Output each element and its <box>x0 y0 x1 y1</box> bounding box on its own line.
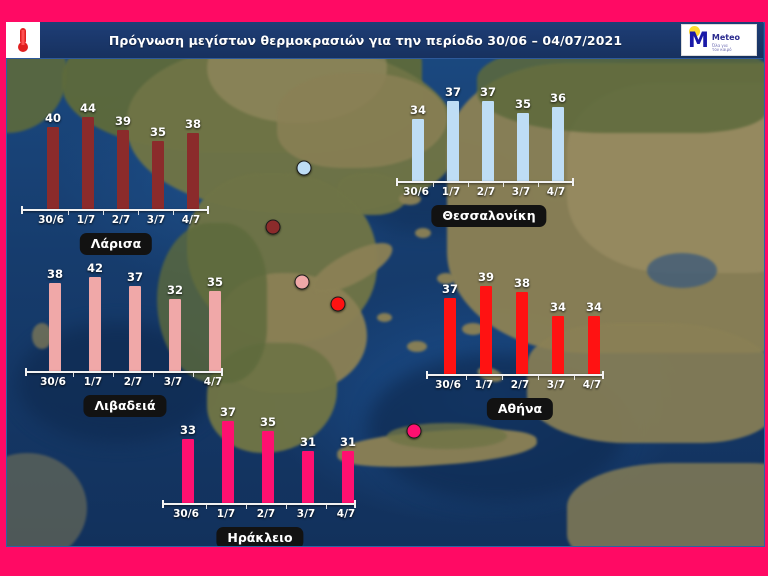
bar-value: 37 <box>220 405 236 419</box>
bar-value: 38 <box>514 276 530 290</box>
bar-column: 39 <box>478 266 494 374</box>
chart-livadeia-title: Λιβαδειά <box>83 395 166 417</box>
bar-column: 35 <box>150 101 166 209</box>
x-label: 4/7 <box>182 214 200 226</box>
chart-larissa: 40 44 39 35 38 <box>21 101 211 246</box>
chart-athina: 37 39 38 34 34 <box>426 266 606 416</box>
x-label: 1/7 <box>217 508 235 520</box>
map-marker-larissa[interactable] <box>266 220 281 235</box>
logo-tagline-2: τον καιρό <box>712 48 740 52</box>
bar-rect <box>552 316 564 374</box>
chart-thessaloniki-axis <box>396 181 574 183</box>
bar-value: 38 <box>47 267 63 281</box>
chart-larissa-title: Λάρισα <box>80 233 152 255</box>
thermometer-icon <box>6 22 40 58</box>
chart-thessaloniki-title: Θεσσαλονίκη <box>431 205 546 227</box>
bar-column: 35 <box>260 403 276 503</box>
chart-thessaloniki: 34 37 37 35 36 <box>396 81 576 226</box>
page-title: Πρόγνωση μεγίστων θερμοκρασιών για την π… <box>40 33 681 48</box>
x-label: 30/6 <box>403 186 429 198</box>
x-label: 1/7 <box>77 214 95 226</box>
map-marker-athina[interactable] <box>331 297 346 312</box>
logo-mark: M <box>688 30 709 51</box>
bar-column: 38 <box>514 266 530 374</box>
map-marker-iraklio[interactable] <box>407 424 422 439</box>
chart-livadeia: 38 42 37 32 35 <box>25 261 225 411</box>
bar-value: 37 <box>480 85 496 99</box>
bar-value: 37 <box>445 85 461 99</box>
bar-rect <box>517 113 529 181</box>
bar-column: 33 <box>180 403 196 503</box>
bar-value: 40 <box>45 111 61 125</box>
bar-value: 32 <box>167 283 183 297</box>
land-island <box>407 341 427 352</box>
bar-value: 37 <box>442 282 458 296</box>
chart-larissa-axis <box>21 209 209 211</box>
bar-value: 33 <box>180 423 196 437</box>
x-label: 3/7 <box>147 214 165 226</box>
bar-value: 31 <box>340 435 356 449</box>
bar-rect <box>117 130 129 209</box>
bar-value: 36 <box>550 91 566 105</box>
bar-column: 38 <box>185 101 201 209</box>
poster-frame: 40 44 39 35 38 <box>0 0 768 576</box>
chart-iraklio-bars: 33 37 35 31 31 <box>162 403 357 503</box>
chart-iraklio: 33 37 35 31 31 <box>162 403 357 547</box>
bar-rect <box>302 451 314 503</box>
bar-column: 34 <box>586 266 602 374</box>
x-label: 2/7 <box>257 508 275 520</box>
bar-column: 37 <box>127 261 143 371</box>
bar-rect <box>129 286 141 371</box>
x-label: 30/6 <box>40 376 66 388</box>
chart-thessaloniki-bars: 34 37 37 35 36 <box>396 81 576 181</box>
bar-value: 34 <box>410 103 426 117</box>
bar-value: 37 <box>127 270 143 284</box>
bar-column: 32 <box>167 261 183 371</box>
x-label: 1/7 <box>475 379 493 391</box>
bar-rect <box>187 133 199 209</box>
x-label: 2/7 <box>511 379 529 391</box>
bar-column: 37 <box>442 266 458 374</box>
bar-value: 39 <box>115 114 131 128</box>
meteo-logo[interactable]: M Meteo Όλα για τον καιρό <box>681 24 757 56</box>
bar-rect <box>516 292 528 374</box>
x-label: 2/7 <box>124 376 142 388</box>
x-label: 30/6 <box>38 214 64 226</box>
chart-athina-axis <box>426 374 604 376</box>
bar-rect <box>152 141 164 209</box>
bar-column: 31 <box>340 403 356 503</box>
bar-column: 44 <box>80 101 96 209</box>
bar-column: 35 <box>515 81 531 181</box>
x-label: 3/7 <box>512 186 530 198</box>
bar-rect <box>169 299 181 371</box>
chart-livadeia-bars: 38 42 37 32 35 <box>25 261 225 371</box>
x-label: 3/7 <box>164 376 182 388</box>
bar-rect <box>444 298 456 374</box>
bar-column: 38 <box>47 261 63 371</box>
bar-rect <box>82 117 94 209</box>
bar-rect <box>182 439 194 503</box>
land-island <box>415 228 431 238</box>
chart-larissa-bars: 40 44 39 35 38 <box>21 101 211 209</box>
x-label: 3/7 <box>547 379 565 391</box>
bar-rect <box>552 107 564 181</box>
x-label: 1/7 <box>442 186 460 198</box>
bar-value: 38 <box>185 117 201 131</box>
bar-column: 37 <box>445 81 461 181</box>
bar-column: 39 <box>115 101 131 209</box>
logo-name: Meteo <box>712 33 740 42</box>
x-label: 2/7 <box>112 214 130 226</box>
x-label: 3/7 <box>297 508 315 520</box>
x-label: 4/7 <box>583 379 601 391</box>
bar-rect <box>342 451 354 503</box>
bar-value: 44 <box>80 101 96 115</box>
bar-column: 42 <box>87 261 103 371</box>
bar-column: 34 <box>410 81 426 181</box>
header-bar: Πρόγνωση μεγίστων θερμοκρασιών για την π… <box>6 22 763 59</box>
bar-rect <box>49 283 61 371</box>
bar-value: 35 <box>207 275 223 289</box>
chart-iraklio-axis <box>162 503 356 505</box>
bar-rect <box>222 421 234 503</box>
x-label: 4/7 <box>204 376 222 388</box>
x-label: 30/6 <box>435 379 461 391</box>
land-island <box>377 313 392 322</box>
bar-rect <box>47 127 59 209</box>
bar-rect <box>447 101 459 181</box>
land-crete-hi <box>387 423 507 449</box>
x-label: 4/7 <box>337 508 355 520</box>
bar-column: 35 <box>207 261 223 371</box>
chart-athina-bars: 37 39 38 34 34 <box>426 266 606 374</box>
bar-column: 34 <box>550 266 566 374</box>
chart-athina-title: Αθήνα <box>487 398 553 420</box>
map-panel: 40 44 39 35 38 <box>6 22 765 547</box>
lake-tuz <box>647 253 717 288</box>
bar-column: 31 <box>300 403 316 503</box>
bar-column: 37 <box>220 403 236 503</box>
x-label: 2/7 <box>477 186 495 198</box>
bar-rect <box>262 431 274 503</box>
bar-column: 37 <box>480 81 496 181</box>
bar-value: 42 <box>87 261 103 275</box>
x-label: 1/7 <box>84 376 102 388</box>
bar-value: 34 <box>586 300 602 314</box>
bar-rect <box>412 119 424 181</box>
bar-value: 31 <box>300 435 316 449</box>
bar-value: 35 <box>260 415 276 429</box>
bar-value: 34 <box>550 300 566 314</box>
map-marker-thessaloniki[interactable] <box>297 161 312 176</box>
bar-column: 36 <box>550 81 566 181</box>
bar-rect <box>482 101 494 181</box>
bar-rect <box>588 316 600 374</box>
bar-value: 35 <box>150 125 166 139</box>
chart-livadeia-axis <box>25 371 223 373</box>
chart-iraklio-title: Ηράκλειο <box>216 527 303 547</box>
bar-rect <box>89 277 101 371</box>
bar-value: 39 <box>478 270 494 284</box>
map-marker-livadeia[interactable] <box>295 275 310 290</box>
x-label: 30/6 <box>173 508 199 520</box>
bar-column: 40 <box>45 101 61 209</box>
bar-rect <box>480 286 492 374</box>
x-label: 4/7 <box>547 186 565 198</box>
bar-value: 35 <box>515 97 531 111</box>
bar-rect <box>209 291 221 371</box>
land-south-edge <box>567 463 765 547</box>
